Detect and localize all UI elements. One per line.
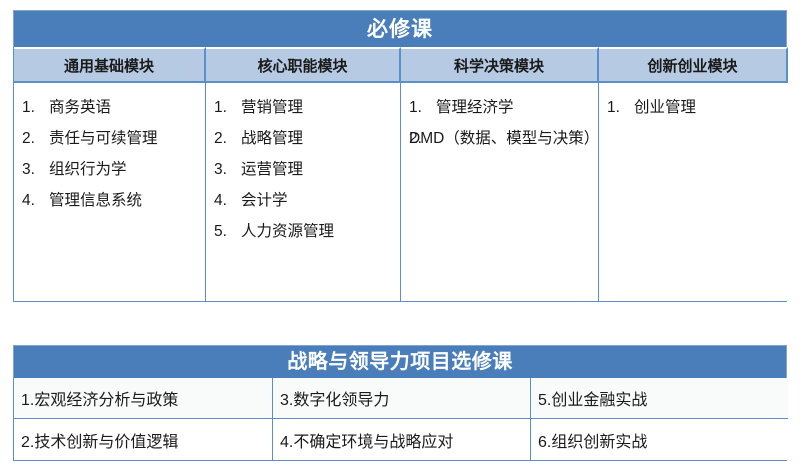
list-item-label: 战略管理 [241,123,394,154]
column-header-innovation-entrepreneurship: 创新创业模块 [599,47,788,83]
list-item-label: 创业管理 [634,92,782,123]
list-item-number: 1. [22,92,49,123]
table-cell: 6.组织创新实战 [531,419,788,460]
column-body-scientific-decision: 1. 管理经济学 2. DMD（数据、模型与决策） [401,83,599,301]
list-item-number: 1. [214,92,241,123]
list-item-number: 2. [22,123,49,154]
list-item-label: 人力资源管理 [241,216,394,247]
course-list-general-foundation: 1. 商务英语 2. 责任与可续管理 3. 组织行为学 4. 管理信息系统 [22,92,199,216]
list-item: 2. 战略管理 [214,123,394,154]
elective-table-grid: 1.宏观经济分析与政策 3.数字化领导力 5.创业金融实战 2.技术创新与价值逻… [13,378,787,461]
list-item: 3. 组织行为学 [22,154,199,185]
table-cell: 5.创业金融实战 [531,378,788,419]
column-body-innovation-entrepreneurship: 1. 创业管理 [599,83,788,301]
list-item-label: 营销管理 [241,92,394,123]
list-item: 1. 管理经济学 [409,92,592,123]
list-item-number: 4. [214,185,241,216]
list-item-label: 会计学 [241,185,394,216]
table-cell: 2.技术创新与价值逻辑 [14,419,273,460]
list-item: 1. 创业管理 [607,92,782,123]
elective-table-title: 战略与领导力项目选修课 [13,345,787,378]
course-list-innovation-entrepreneurship: 1. 创业管理 [607,92,782,123]
column-body-general-foundation: 1. 商务英语 2. 责任与可续管理 3. 组织行为学 4. 管理信息系统 [14,83,206,301]
list-item: 1. 商务英语 [22,92,199,123]
table-cell: 1.宏观经济分析与政策 [14,378,273,419]
required-table-title: 必修课 [13,10,787,47]
table-cell: 3.数字化领导力 [273,378,531,419]
course-list-scientific-decision: 1. 管理经济学 2. DMD（数据、模型与决策） [409,92,592,154]
list-item-number: 3. [22,154,49,185]
list-item-label: 管理信息系统 [49,185,199,216]
list-item: 4. 管理信息系统 [22,185,199,216]
list-item-label: 管理经济学 [436,92,592,123]
column-header-general-foundation: 通用基础模块 [14,47,206,83]
list-item-label: 责任与可续管理 [49,123,199,154]
list-item-number: 1. [607,92,634,123]
list-item: 5. 人力资源管理 [214,216,394,247]
list-item: 2. DMD（数据、模型与决策） [409,123,592,154]
list-item: 4. 会计学 [214,185,394,216]
list-item-number: 1. [409,92,436,123]
list-item-label: 商务英语 [49,92,199,123]
list-item: 3. 运营管理 [214,154,394,185]
elective-courses-table: 战略与领导力项目选修课 1.宏观经济分析与政策 3.数字化领导力 5.创业金融实… [13,345,787,461]
required-courses-table: 必修课 通用基础模块 核心职能模块 科学决策模块 创新创业模块 1. 商务英语 … [13,10,787,302]
column-header-core-function: 核心职能模块 [206,47,401,83]
list-item-label: 运营管理 [241,154,394,185]
list-item-number: 3. [214,154,241,185]
required-table-grid: 通用基础模块 核心职能模块 科学决策模块 创新创业模块 1. 商务英语 2. 责… [13,47,787,302]
list-item: 1. 营销管理 [214,92,394,123]
list-item-number: 5. [214,216,241,247]
list-item-label: 组织行为学 [49,154,199,185]
column-header-scientific-decision: 科学决策模块 [401,47,599,83]
table-cell: 4.不确定环境与战略应对 [273,419,531,460]
list-item-number: 4. [22,185,49,216]
column-body-core-function: 1. 营销管理 2. 战略管理 3. 运营管理 4. 会计学 5. 人力资源 [206,83,401,301]
list-item-label: DMD（数据、模型与决策） [409,123,592,154]
list-item: 2. 责任与可续管理 [22,123,199,154]
course-list-core-function: 1. 营销管理 2. 战略管理 3. 运营管理 4. 会计学 5. 人力资源 [214,92,394,247]
list-item-number: 2. [214,123,241,154]
